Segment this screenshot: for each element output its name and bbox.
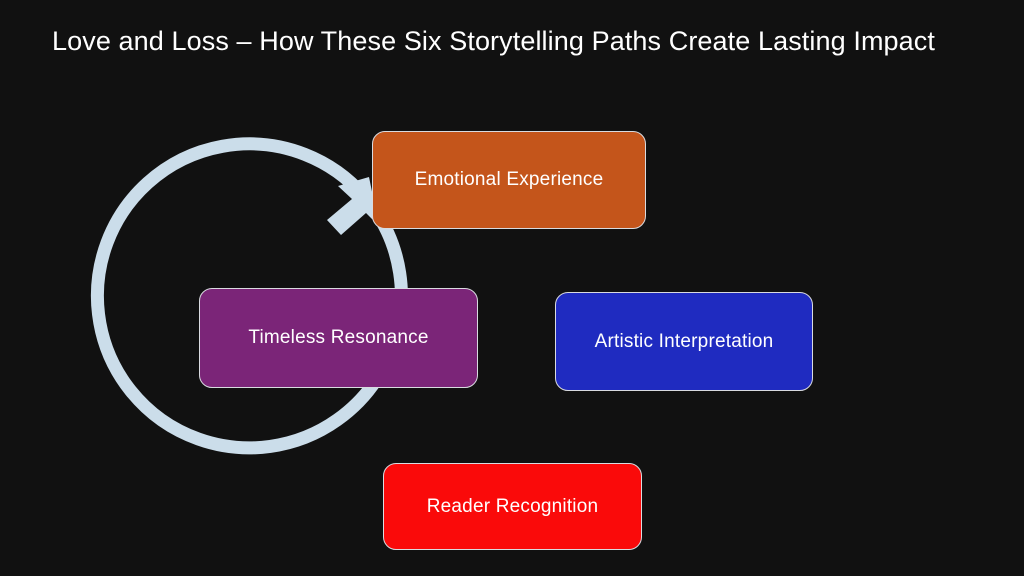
cycle-node-label: Artistic Interpretation xyxy=(595,331,774,353)
cycle-node-label: Timeless Resonance xyxy=(248,327,428,349)
cycle-node-label: Emotional Experience xyxy=(415,169,604,191)
cycle-node-timeless-resonance[interactable]: Timeless Resonance xyxy=(199,288,478,388)
cycle-node-emotional-experience[interactable]: Emotional Experience xyxy=(372,131,646,229)
cycle-node-artistic-interpretation[interactable]: Artistic Interpretation xyxy=(555,292,813,391)
slide-canvas: Love and Loss – How These Six Storytelli… xyxy=(0,0,1024,576)
cycle-node-label: Reader Recognition xyxy=(427,496,599,518)
cycle-node-reader-recognition[interactable]: Reader Recognition xyxy=(383,463,642,550)
cycle-diagram: Emotional Experience Artistic Interpreta… xyxy=(0,0,1024,576)
